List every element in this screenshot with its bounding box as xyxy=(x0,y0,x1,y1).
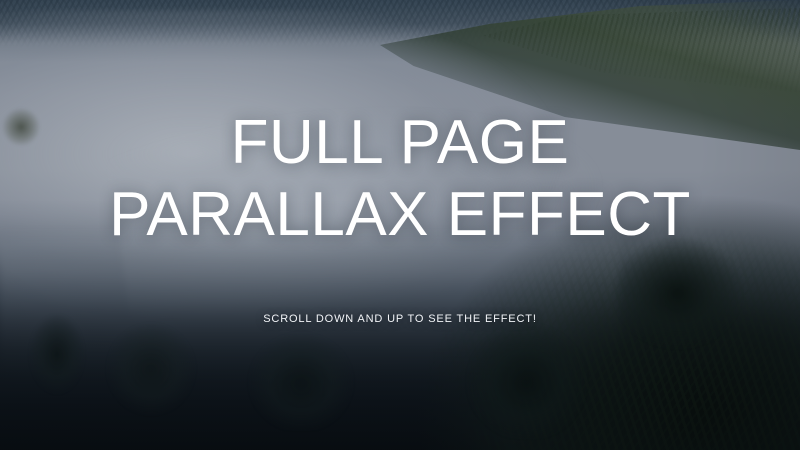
hero-section: FULL PAGE PARALLAX EFFECT SCROLL DOWN AN… xyxy=(0,0,800,450)
hero-heading: FULL PAGE PARALLAX EFFECT xyxy=(80,107,720,251)
hero-content: FULL PAGE PARALLAX EFFECT SCROLL DOWN AN… xyxy=(0,0,800,450)
hero-subtitle: SCROLL DOWN AND UP TO SEE THE EFFECT! xyxy=(263,313,537,325)
